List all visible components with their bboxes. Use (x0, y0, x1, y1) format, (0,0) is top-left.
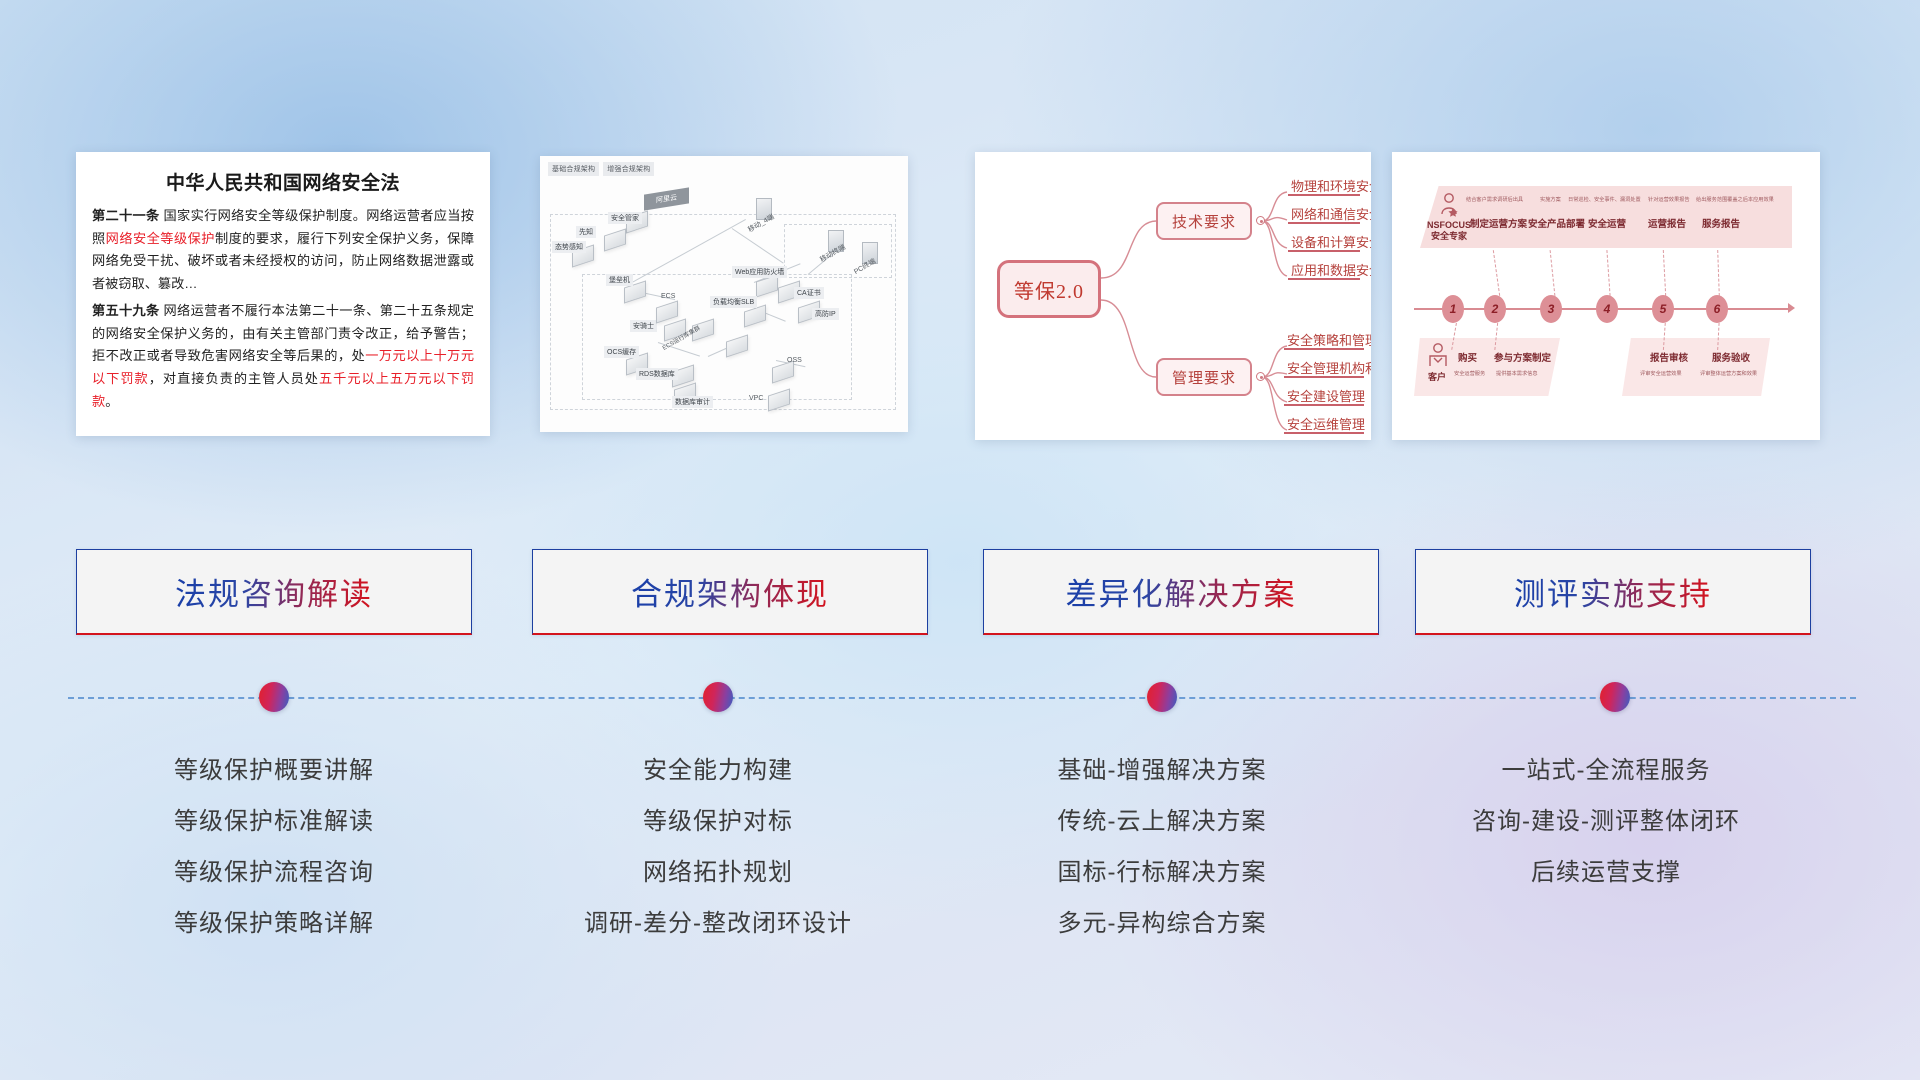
pillar-item: 一站式-全流程服务 (1391, 745, 1821, 796)
architecture-node-slb (744, 308, 766, 324)
mindmap-leaf: 安全策略和管理制度 (1287, 330, 1371, 349)
timeline-tick (1550, 250, 1556, 296)
pillar-item: 等级保护对标 (503, 796, 933, 847)
timeline-step-name: 制定运营方案 (1470, 216, 1527, 230)
rail-marker-2[interactable] (1147, 682, 1177, 712)
pillar-label-box-2[interactable]: 差异化解决方案 (983, 549, 1379, 635)
mindmap-leaf-underline (1284, 404, 1364, 406)
expert-person-icon (1436, 192, 1462, 218)
architecture-label-security-butler: 安全管家 (608, 212, 642, 224)
rail-marker-3[interactable] (1600, 682, 1630, 712)
law-title: 中华人民共和国网络安全法 (92, 168, 474, 195)
mindmap-leaf: 物理和环境安全 (1291, 176, 1371, 195)
timeline-actor-provider-line2: 安全专家 (1420, 231, 1478, 242)
law-article-59-text-c: 。 (105, 394, 118, 409)
mindmap-leaf: 安全建设管理 (1287, 386, 1365, 405)
timeline-step-name: 安全产品部署 (1528, 216, 1585, 230)
architecture-node-bastion (624, 284, 646, 300)
rail-marker-0[interactable] (259, 682, 289, 712)
rail-marker-1[interactable] (703, 682, 733, 712)
architecture-tabs: 基础合规架构 增强合规架构 (548, 162, 654, 176)
timeline-tick (1663, 250, 1666, 296)
timeline-rail (68, 697, 1856, 699)
timeline-axis-arrow (1788, 303, 1795, 313)
mindmap-collapse-dot-technical[interactable] (1256, 216, 1265, 225)
timeline-step-name: 安全运营 (1588, 216, 1626, 230)
mindmap-leaf: 设备和计算安全 (1291, 232, 1371, 251)
timeline-step-name: 服务验收 (1712, 350, 1750, 364)
customer-person-icon (1426, 342, 1450, 368)
architecture-label-anqishi: 安骑士 (630, 320, 657, 332)
timeline-node[interactable]: 3 (1540, 295, 1562, 323)
timeline-step-name: 报告审核 (1650, 350, 1688, 364)
architecture-label-rds: RDS数据库 (636, 368, 678, 380)
architecture-node-ecs (656, 304, 678, 320)
pillar-item: 传统-云上解决方案 (947, 796, 1377, 847)
card-cybersecurity-law: 中华人民共和国网络安全法 第二十一条 国家实行网络安全等级保护制度。网络运营者应… (76, 152, 490, 436)
timeline-step-name: 参与方案制定 (1494, 350, 1551, 364)
timeline-step-sub: 针对运营效果报告 (1648, 196, 1690, 203)
pillar-label-box-1[interactable]: 合规架构体现 (532, 549, 928, 635)
pillar-item: 等级保护流程咨询 (59, 847, 489, 898)
pillar-item: 调研-差分-整改闭环设计 (503, 898, 933, 949)
mindmap-category-technical: 技术要求 (1156, 202, 1252, 240)
mindmap-leaf: 应用和数据安全 (1291, 260, 1371, 279)
law-article-21: 第二十一条 国家实行网络安全等级保护制度。网络运营者应当按照网络安全等级保护制度… (92, 205, 474, 296)
timeline-step-sub: 日常巡检、安全事件、漏洞处置 (1568, 196, 1641, 203)
timeline-customer-band-right (1622, 338, 1770, 396)
mindmap-leaf: 网络和通信安全 (1291, 204, 1371, 223)
architecture-node-oss (772, 364, 794, 380)
architecture-label-ca: CA证书 (794, 287, 824, 299)
mindmap: 等保2.0 技术要求 管理要求 物理和环境安全 网络和通信安全 设备和计算安全 … (975, 152, 1371, 440)
pillar-item: 等级保护标准解读 (59, 796, 489, 847)
timeline-node[interactable]: 2 (1484, 295, 1506, 323)
mindmap-leaf-underline (1288, 222, 1360, 224)
pillar-item: 等级保护策略详解 (59, 898, 489, 949)
timeline-step-sub: 实施方案 (1540, 196, 1561, 203)
timeline-node[interactable]: 6 (1706, 295, 1728, 323)
timeline-step-sub: 安全运营服务 (1454, 370, 1485, 377)
pillar-item: 等级保护概要讲解 (59, 745, 489, 796)
mindmap-leaf-underline (1288, 278, 1360, 280)
architecture-label-vpc: VPC (746, 394, 766, 403)
pillar-title-3: 测评实施支持 (1514, 569, 1712, 614)
architecture-label-db-audit: 数据库审计 (672, 396, 713, 408)
architecture-label-ocs: OCS缓存 (604, 346, 639, 358)
pillar-title-0: 法规咨询解读 (175, 569, 373, 614)
mindmap-leaf-underline (1288, 194, 1360, 196)
mindmap-category-management: 管理要求 (1156, 358, 1252, 396)
mindmap-root-node: 等保2.0 (997, 260, 1101, 318)
architecture-label-bastion: 堡垒机 (606, 274, 633, 286)
pillar-item: 网络拓扑规划 (503, 847, 933, 898)
timeline-step-name: 服务报告 (1702, 216, 1740, 230)
timeline-step-name: 运营报告 (1648, 216, 1686, 230)
architecture-label-ecs: ECS (658, 292, 678, 301)
architecture-label-xianzhi: 先知 (576, 226, 596, 238)
architecture-node-vpc (768, 392, 790, 408)
pillar-item: 后续运营支撑 (1391, 847, 1821, 898)
pillar-items-2: 基础-增强解决方案 传统-云上解决方案 国标-行标解决方案 多元-异构综合方案 (947, 745, 1377, 949)
pillar-item: 基础-增强解决方案 (947, 745, 1377, 796)
law-article-21-label: 第二十一条 (92, 208, 160, 223)
architecture-diagram: 基础合规架构 增强合规架构 阿里云 安全管家 先知 (540, 156, 908, 432)
mindmap-leaf-underline (1284, 348, 1364, 350)
pillar-item: 咨询-建设-测评整体闭环 (1391, 796, 1821, 847)
architecture-tab-enhanced[interactable]: 增强合规架构 (603, 162, 654, 176)
card-compliance-architecture: 基础合规架构 增强合规架构 阿里云 安全管家 先知 (540, 156, 908, 432)
mindmap-collapse-dot-management[interactable] (1256, 372, 1265, 381)
timeline-node[interactable]: 4 (1596, 295, 1618, 323)
architecture-label-cloud: 阿里云 (644, 187, 689, 210)
card-nsfocus-service-timeline: NSFOCUS 安全专家 客户 结合客户需求调研后出具 制定运营方案 实施方案 … (1392, 152, 1820, 440)
timeline-step-sub: 提供基本需求信息 (1496, 370, 1538, 377)
pillar-items-0: 等级保护概要讲解 等级保护标准解读 等级保护流程咨询 等级保护策略详解 (59, 745, 489, 949)
pillar-label-box-3[interactable]: 测评实施支持 (1415, 549, 1811, 635)
architecture-node-xianzhi (604, 232, 626, 248)
pillar-title-2: 差异化解决方案 (1066, 569, 1297, 614)
architecture-label-situational-awareness: 态势感知 (552, 241, 586, 253)
pillar-item: 安全能力构建 (503, 745, 933, 796)
service-timeline: NSFOCUS 安全专家 客户 结合客户需求调研后出具 制定运营方案 实施方案 … (1392, 152, 1820, 440)
mindmap-leaf-underline (1288, 250, 1360, 252)
architecture-label-anti-ddos-ip: 高防IP (812, 308, 839, 320)
law-article-59-label: 第五十九条 (92, 303, 160, 318)
law-article-59-text-b: ，对直接负责的主管人员处 (149, 371, 319, 386)
card-dengbao-mindmap: 等保2.0 技术要求 管理要求 物理和环境安全 网络和通信安全 设备和计算安全 … (975, 152, 1371, 440)
timeline-tick (1717, 250, 1720, 296)
timeline-step-sub: 给出服务范围覆盖之后本应用效果 (1696, 196, 1774, 203)
law-article-59: 第五十九条 网络运营者不履行本法第二十一条、第二十五条规定的网络安全保护义务的，… (92, 300, 474, 414)
timeline-tick (1493, 250, 1500, 296)
architecture-label-slb: 负载均衡SLB (710, 296, 757, 308)
architecture-node-waf (756, 278, 778, 294)
mindmap-leaf: 安全管理机构和人员 (1287, 358, 1371, 377)
timeline-step-name: 购买 (1458, 350, 1477, 364)
architecture-tab-basic[interactable]: 基础合规架构 (548, 162, 599, 176)
timeline-step-sub: 评审安全运营效果 (1640, 370, 1682, 377)
pillar-items-3: 一站式-全流程服务 咨询-建设-测评整体闭环 后续运营支撑 (1391, 745, 1821, 898)
pillar-item: 多元-异构综合方案 (947, 898, 1377, 949)
timeline-node[interactable]: 1 (1442, 295, 1464, 323)
poster-canvas: 中华人民共和国网络安全法 第二十一条 国家实行网络安全等级保护制度。网络运营者应… (0, 0, 1920, 1080)
architecture-label-waf: Web应用防火墙 (732, 266, 787, 278)
pillar-title-1: 合规架构体现 (631, 569, 829, 614)
architecture-node-ecs-cluster-b (726, 338, 748, 354)
timeline-step-sub: 结合客户需求调研后出具 (1466, 196, 1523, 203)
pillar-item: 国标-行标解决方案 (947, 847, 1377, 898)
mindmap-leaf-underline (1284, 376, 1364, 378)
mindmap-leaf-underline (1284, 432, 1364, 434)
timeline-node[interactable]: 5 (1652, 295, 1674, 323)
law-article-21-highlight: 网络安全等级保护 (106, 231, 215, 246)
mindmap-leaf: 安全运维管理 (1287, 414, 1365, 433)
architecture-label-oss: OSS (784, 356, 805, 365)
timeline-step-sub: 评审整体运营方案和效果 (1700, 370, 1757, 377)
timeline-tick (1606, 250, 1610, 296)
pillar-items-1: 安全能力构建 等级保护对标 网络拓扑规划 调研-差分-整改闭环设计 (503, 745, 933, 949)
timeline-actor-customer: 客户 (1422, 372, 1452, 383)
pillar-label-box-0[interactable]: 法规咨询解读 (76, 549, 472, 635)
